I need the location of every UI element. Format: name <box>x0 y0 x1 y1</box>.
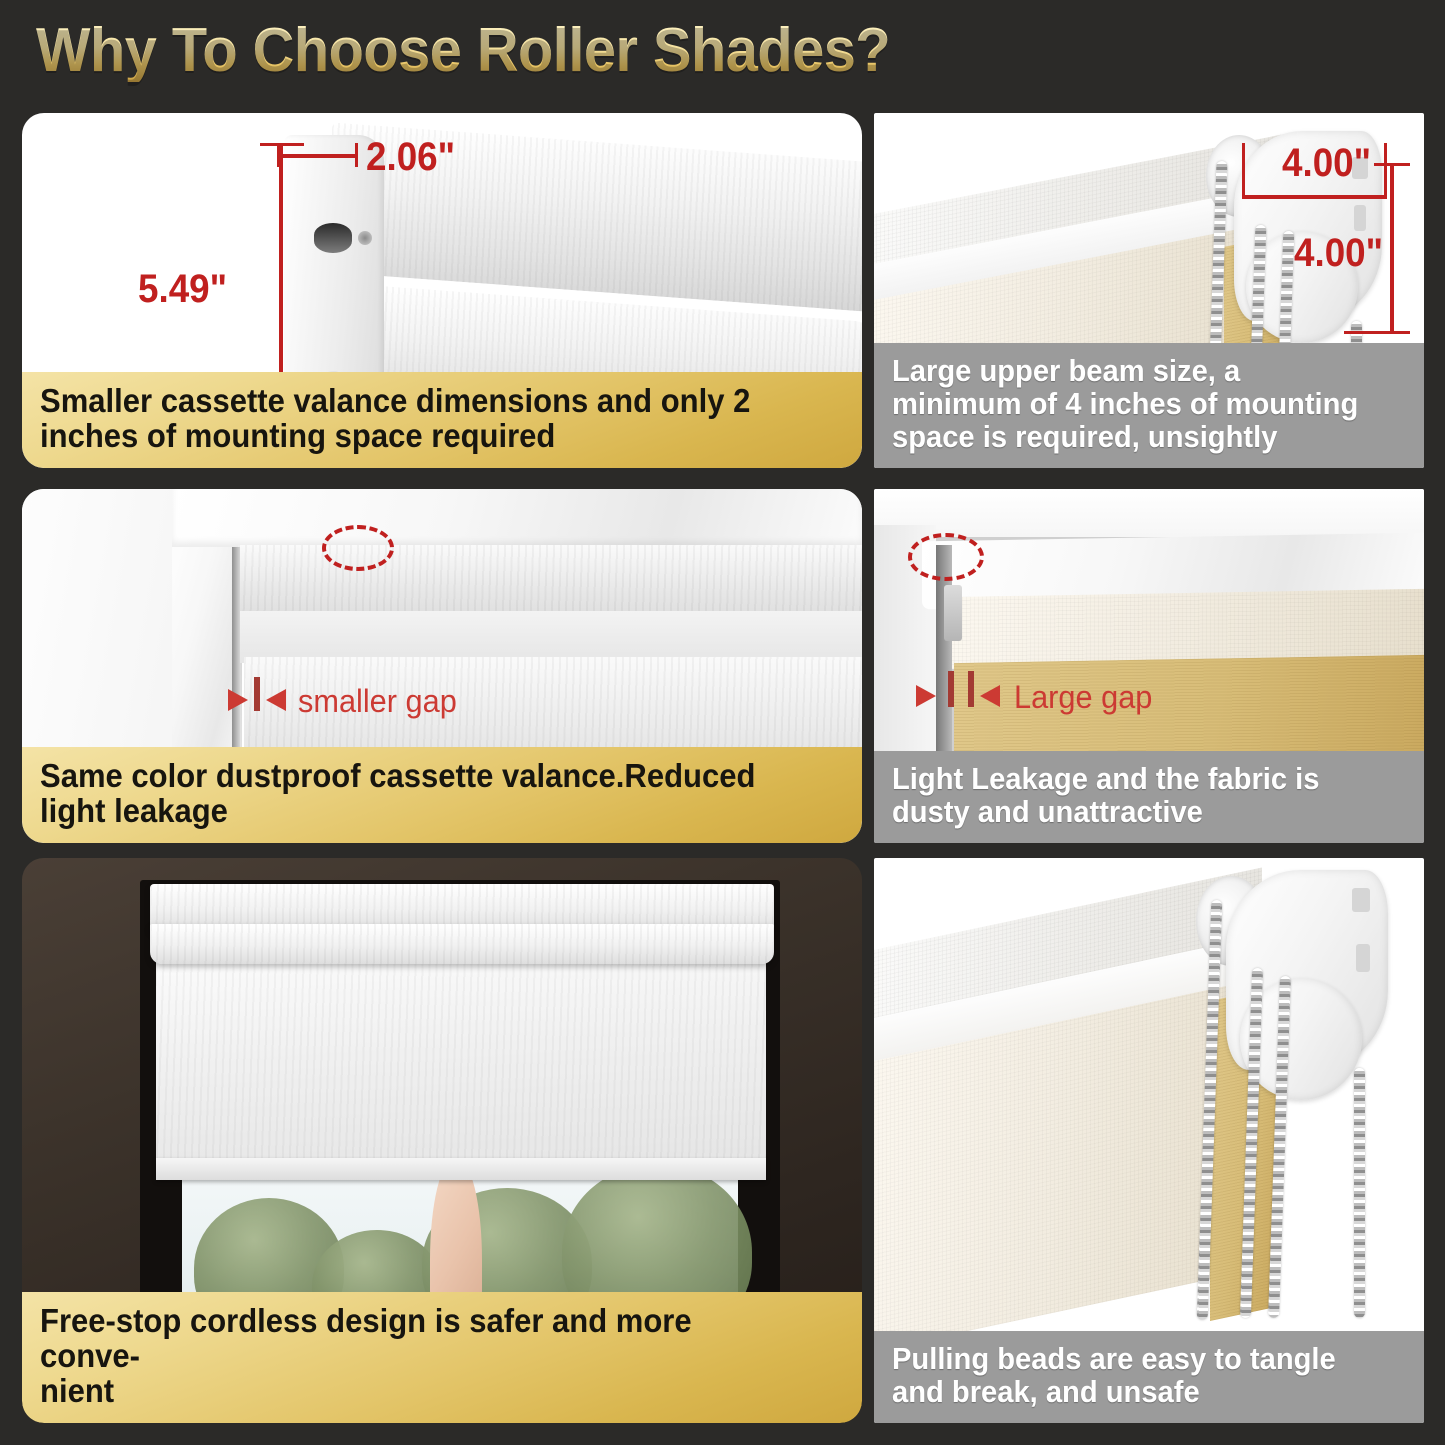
panel-4-caption-text: Light Leakage and the fabric is dusty an… <box>892 763 1377 829</box>
panel-6-caption: Pulling beads are easy to tangle and bre… <box>874 1331 1424 1423</box>
gap-measure-bar <box>254 677 260 711</box>
panel-3-caption: Same color dustproof cassette valance.Re… <box>22 747 862 843</box>
panel-1-caption-text: Smaller cassette valance dimensions and … <box>40 384 798 454</box>
panel-large-beam: 4.00" 4.00" Large upper beam size, a min… <box>874 113 1424 468</box>
dashed-highlight-circle <box>908 533 984 581</box>
dim-height-label: 5.49" <box>138 269 227 309</box>
dim-height-tick-top <box>260 143 304 146</box>
gap-arrow-left <box>266 689 286 711</box>
dim-width-line <box>1244 195 1386 199</box>
dim-height-label: 4.00" <box>1294 233 1383 273</box>
gap-measure-bar-left <box>948 671 954 707</box>
dim-height-tick-top <box>1374 163 1410 166</box>
cassette-valance-shadow <box>238 611 862 663</box>
gap-measure-bar-right <box>968 671 974 707</box>
dim-height-tick-bottom <box>1344 331 1410 334</box>
gap-callout-label: smaller gap <box>298 683 457 720</box>
bracket-notch-top <box>1352 888 1370 912</box>
shade-bottom-rail <box>156 1158 766 1180</box>
gap-arrow-right <box>916 685 936 707</box>
dim-width-tick-left <box>1242 143 1245 199</box>
panel-4-caption: Light Leakage and the fabric is dusty an… <box>874 751 1424 843</box>
panel-dustproof-valance: smaller gap Same color dustproof cassett… <box>22 489 862 843</box>
bracket-notch-bottom <box>1354 205 1366 231</box>
title-bar: Why To Choose Roller Shades? <box>0 0 1445 108</box>
ceiling-surface <box>874 489 1424 537</box>
cassette-valance-roll <box>150 924 774 964</box>
gap-arrow-left <box>980 685 1000 707</box>
valance-slot <box>314 223 352 253</box>
bracket-notch-bottom <box>1356 944 1370 972</box>
window-frame-header <box>172 489 862 547</box>
panel-2-caption-text: Large upper beam size, a minimum of 4 in… <box>892 355 1377 454</box>
dim-width-label: 2.06" <box>366 137 455 177</box>
dim-width-label: 4.00" <box>1282 143 1371 183</box>
dim-width-tick-right <box>1384 143 1387 199</box>
panel-1-caption: Smaller cassette valance dimensions and … <box>22 372 862 468</box>
dashed-highlight-circle <box>322 525 394 571</box>
panel-pulling-beads: Pulling beads are easy to tangle and bre… <box>874 858 1424 1423</box>
page-title: Why To Choose Roller Shades? <box>36 20 890 82</box>
panel-cordless-design: Free-stop cordless design is safer and m… <box>22 858 862 1423</box>
dim-width-line <box>280 154 358 158</box>
dim-height-line <box>1390 163 1394 333</box>
panel-smaller-cassette: 2.06" 5.49" Smaller cassette valance dim… <box>22 113 862 468</box>
bead-chain-tail <box>1354 1068 1365 1318</box>
panel-5-caption: Free-stop cordless design is safer and m… <box>22 1292 862 1423</box>
gap-arrow-right <box>228 689 248 711</box>
panel-light-leakage: Large gap Light Leakage and the fabric i… <box>874 489 1424 843</box>
panel-6-caption-text: Pulling beads are easy to tangle and bre… <box>892 1343 1377 1409</box>
panel-5-caption-text: Free-stop cordless design is safer and m… <box>40 1304 798 1409</box>
valance-screw-upper <box>358 231 372 245</box>
chain-clutch-mechanism <box>944 585 962 641</box>
panel-3-caption-text: Same color dustproof cassette valance.Re… <box>40 759 798 829</box>
panel-2-caption: Large upper beam size, a minimum of 4 in… <box>874 343 1424 468</box>
shade-fabric <box>156 950 766 1178</box>
gap-callout-label: Large gap <box>1014 679 1152 716</box>
